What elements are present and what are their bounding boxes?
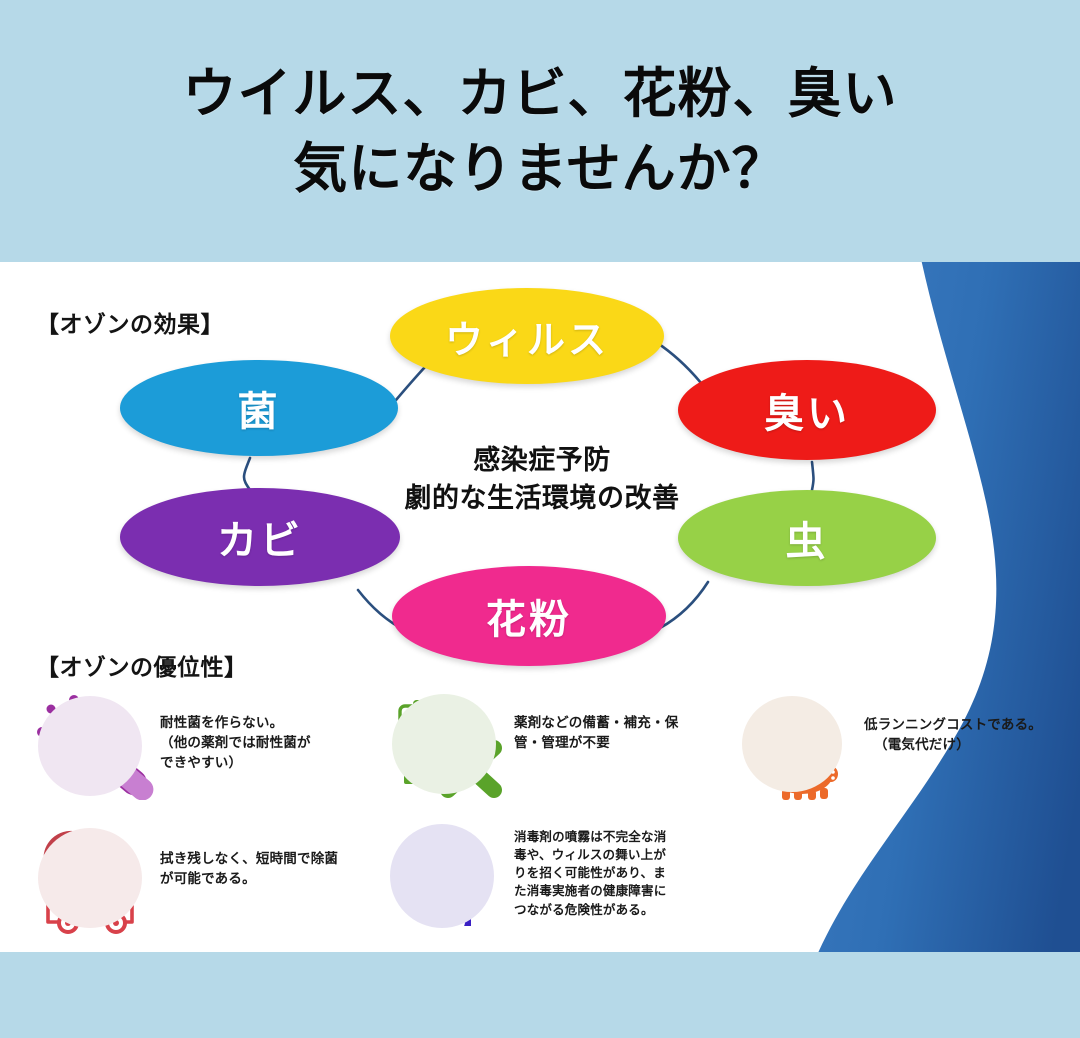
advantage-3-text: 低ランニングコストである。 （電気代だけ）	[864, 692, 1042, 756]
effect-node-germ[interactable]: 菌	[120, 360, 398, 456]
effect-node-pollen-label: 花粉	[486, 587, 572, 645]
clipboard-bottle-cross-icon	[386, 690, 514, 800]
lightbulb-piggybank-icon	[736, 692, 864, 802]
advantage-item-no-chemical-stock: 薬剤などの備蓄・補充・保 管・管理が不要	[386, 690, 738, 800]
poster-root: ウイルス、カビ、花粉、臭い 気になりませんか？ 【オゾンの効果】 【オゾンの優位…	[0, 0, 1080, 1038]
advantage-4-text: 拭き残しなく、短時間で除菌 が可能である。	[160, 826, 338, 890]
effect-node-virus-label: ウィルス	[445, 309, 609, 364]
advantage-item-fast-disinfection: 拭き残しなく、短時間で除菌 が可能である。	[32, 826, 392, 936]
effect-node-odor-label: 臭い	[764, 381, 850, 439]
advantage-1-line1: 耐性菌を作らない。	[160, 714, 311, 734]
advantage-5-text: 消毒剤の噴霧は不完全な消 毒や、ウィルスの舞い上が りを招く可能性があり、ま た…	[514, 822, 666, 919]
center-text-line1: 感染症予防	[400, 442, 684, 480]
advantage-5-line2: 毒や、ウィルスの舞い上が	[514, 846, 666, 864]
advantage-5-line4: た消毒実施者の健康障害に	[514, 882, 666, 900]
effect-node-insect-label: 虫	[786, 509, 829, 567]
advantage-2-text: 薬剤などの備蓄・補充・保 管・管理が不要	[514, 690, 678, 754]
diagram-center-text: 感染症予防 劇的な生活環境の改善	[400, 442, 684, 519]
advantage-4-line1: 拭き残しなく、短時間で除菌	[160, 850, 338, 870]
header-banner: ウイルス、カビ、花粉、臭い 気になりませんか？	[0, 0, 1080, 262]
advantage-3-line2: （電気代だけ）	[864, 736, 1042, 756]
advantage-2-line1: 薬剤などの備蓄・補充・保	[514, 714, 678, 734]
virus-pill-icon	[32, 690, 160, 800]
effect-node-insect[interactable]: 虫	[678, 490, 936, 586]
advantage-5-line1: 消毒剤の噴霧は不完全な消	[514, 828, 666, 846]
center-text-line2: 劇的な生活環境の改善	[400, 480, 684, 518]
spray-person-icon	[386, 822, 514, 932]
clock-ambulance-icon	[32, 826, 160, 936]
advantage-item-spray-risk: 消毒剤の噴霧は不完全な消 毒や、ウィルスの舞い上が りを招く可能性があり、ま た…	[386, 822, 756, 932]
advantage-item-no-resistant-bacteria: 耐性菌を作らない。 （他の薬剤では耐性菌が できやすい）	[32, 690, 392, 800]
advantage-3-line1: 低ランニングコストである。	[864, 716, 1042, 736]
advantage-1-line3: できやすい）	[160, 754, 311, 774]
effect-node-mold[interactable]: カビ	[120, 488, 400, 586]
header-title-line1: ウイルス、カビ、花粉、臭い	[183, 59, 898, 128]
ozone-effects-diagram: ウィルス 臭い 虫 花粉 カビ 菌 感染症予防 劇的な生活環境の改善	[100, 282, 960, 672]
advantage-4-line2: が可能である。	[160, 870, 338, 890]
advantage-5-line3: りを招く可能性があり、ま	[514, 864, 666, 882]
advantage-item-low-running-cost: 低ランニングコストである。 （電気代だけ）	[736, 692, 1066, 802]
header-title-line2: 気になりませんか？	[293, 134, 786, 203]
advantage-5-line5: つながる危険性がある。	[514, 901, 666, 919]
advantage-1-text: 耐性菌を作らない。 （他の薬剤では耐性菌が できやすい）	[160, 690, 311, 774]
advantage-1-line2: （他の薬剤では耐性菌が	[160, 734, 311, 754]
advantage-2-line2: 管・管理が不要	[514, 734, 678, 754]
effect-node-germ-label: 菌	[238, 379, 281, 437]
effect-node-mold-label: カビ	[217, 508, 303, 566]
effect-node-odor[interactable]: 臭い	[678, 360, 936, 460]
effect-node-pollen[interactable]: 花粉	[392, 566, 666, 666]
effect-node-virus[interactable]: ウィルス	[390, 288, 664, 384]
